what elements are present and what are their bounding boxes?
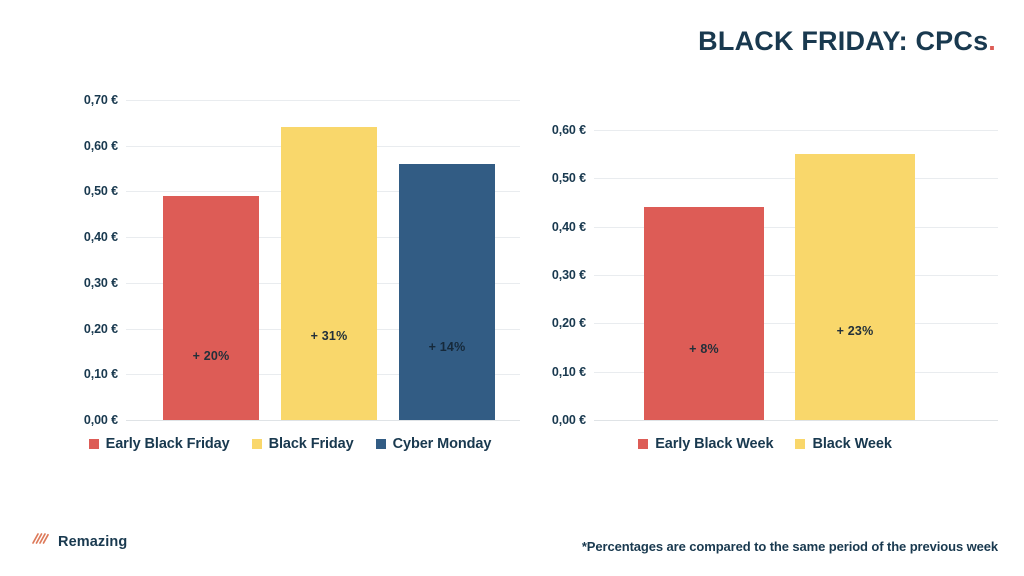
y-tick-label: 0,00 € <box>552 413 586 427</box>
bar-value-label: + 14% <box>429 340 466 354</box>
chart-black-week-cpcs: 0,00 €0,10 €0,20 €0,30 €0,40 €0,50 €0,60… <box>528 130 998 470</box>
y-tick-label: 0,10 € <box>552 365 586 379</box>
bar-value-label: + 23% <box>837 324 874 338</box>
y-axis-right: 0,00 €0,10 €0,20 €0,30 €0,40 €0,50 €0,60… <box>528 130 594 420</box>
page-title: BLACK FRIDAY: CPCs. <box>698 26 996 57</box>
chart-black-friday-cpcs: 0,00 €0,10 €0,20 €0,30 €0,40 €0,50 €0,60… <box>60 100 520 470</box>
y-tick-label: 0,60 € <box>84 139 118 153</box>
page-title-accent-dot: . <box>988 26 996 56</box>
brand-name: Remazing <box>58 534 127 550</box>
plot-area-left: + 20%+ 31%+ 14% <box>126 100 520 420</box>
bar-black-week[interactable]: + 23% <box>795 154 915 420</box>
remazing-stripes-icon <box>30 529 50 554</box>
page-title-text: BLACK FRIDAY: CPCs <box>698 26 988 56</box>
y-tick-label: 0,20 € <box>84 322 118 336</box>
y-tick-label: 0,70 € <box>84 93 118 107</box>
legend-swatch-icon <box>89 439 99 449</box>
bar-early-black-friday[interactable]: + 20% <box>163 196 259 420</box>
legend-label: Black Friday <box>269 436 354 452</box>
bar-black-friday[interactable]: + 31% <box>281 127 377 420</box>
legend-swatch-icon <box>252 439 262 449</box>
y-tick-label: 0,50 € <box>552 171 586 185</box>
bar-value-label: + 8% <box>689 342 719 356</box>
y-tick-label: 0,20 € <box>552 316 586 330</box>
y-tick-label: 0,30 € <box>552 268 586 282</box>
axis-baseline <box>594 420 998 421</box>
brand-logo: Remazing <box>30 529 127 554</box>
y-tick-label: 0,40 € <box>84 230 118 244</box>
y-tick-label: 0,60 € <box>552 123 586 137</box>
y-tick-label: 0,40 € <box>552 220 586 234</box>
y-tick-label: 0,10 € <box>84 367 118 381</box>
legend-item-early-black-friday[interactable]: Early Black Friday <box>89 436 230 452</box>
plot-area-right: + 8%+ 23% <box>594 130 998 420</box>
legend-item-black-week[interactable]: Black Week <box>795 436 891 452</box>
legend-item-black-friday[interactable]: Black Friday <box>252 436 354 452</box>
footnote: *Percentages are compared to the same pe… <box>582 539 998 554</box>
bar-cyber-monday[interactable]: + 14% <box>399 164 495 420</box>
axis-baseline <box>126 420 520 421</box>
legend-item-early-black-week[interactable]: Early Black Week <box>638 436 773 452</box>
legend-label: Early Black Friday <box>106 436 230 452</box>
legend-label: Early Black Week <box>655 436 773 452</box>
bar-early-black-week[interactable]: + 8% <box>644 207 764 420</box>
legend-label: Black Week <box>812 436 891 452</box>
bar-group-right: + 8%+ 23% <box>594 130 998 420</box>
legend-swatch-icon <box>376 439 386 449</box>
bar-value-label: + 20% <box>193 349 230 363</box>
legend-black-week: Early Black WeekBlack Week <box>600 436 930 452</box>
legend-item-cyber-monday[interactable]: Cyber Monday <box>376 436 492 452</box>
y-axis-left: 0,00 €0,10 €0,20 €0,30 €0,40 €0,50 €0,60… <box>60 100 126 420</box>
legend-swatch-icon <box>638 439 648 449</box>
legend-label: Cyber Monday <box>393 436 492 452</box>
y-tick-label: 0,00 € <box>84 413 118 427</box>
bar-group-left: + 20%+ 31%+ 14% <box>126 100 520 420</box>
bar-value-label: + 31% <box>311 329 348 343</box>
legend-black-friday: Early Black FridayBlack FridayCyber Mond… <box>60 436 520 452</box>
legend-swatch-icon <box>795 439 805 449</box>
y-tick-label: 0,50 € <box>84 184 118 198</box>
y-tick-label: 0,30 € <box>84 276 118 290</box>
